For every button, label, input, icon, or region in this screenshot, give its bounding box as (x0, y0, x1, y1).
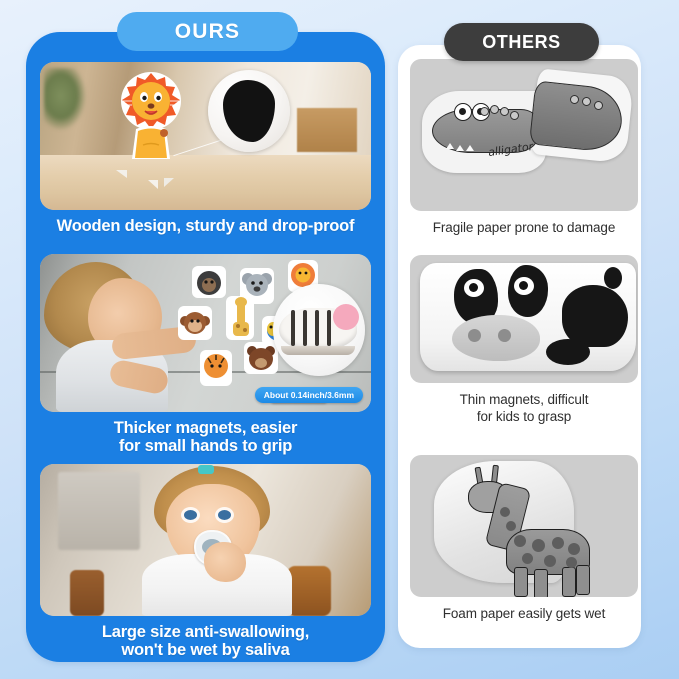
giraffe-leg (514, 567, 528, 597)
others-image-foam-paper-wet (410, 455, 638, 597)
others-panel-1: alligator Fragile paper prone to damage (410, 59, 638, 237)
alligator-scale (490, 105, 499, 114)
giraffe-spot (544, 555, 556, 567)
ours-caption-1: Wooden design, sturdy and drop-proof (40, 210, 371, 235)
ours-card: Wooden design, sturdy and drop-proof (26, 32, 385, 662)
zebra-stripe (303, 310, 307, 346)
giraffe-spot (552, 537, 564, 549)
alligator-eye-left (454, 103, 472, 121)
cow-nostril (498, 329, 511, 342)
ours-caption-3: Large size anti-swallowing, won't be wet… (40, 616, 371, 660)
magnet-back-black-blob (223, 80, 275, 142)
gorilla-magnet-icon (192, 266, 226, 298)
baby-eye-right (218, 510, 231, 520)
ours-panel-2: About 0.14inch/3.6mm Thicker magnets, ea… (40, 254, 371, 456)
ours-caption-3-line2: won't be wet by saliva (40, 641, 371, 659)
giraffe-spot (514, 535, 526, 547)
alligator-scale (582, 97, 591, 106)
zebra-head (333, 304, 359, 330)
others-caption-2: Thin magnets, difficult for kids to gras… (410, 383, 638, 426)
others-caption-2-line2: for kids to grasp (410, 409, 638, 426)
giraffe-spot (532, 539, 545, 552)
alligator-tooth (466, 145, 474, 151)
ours-caption-2: Thicker magnets, easier for small hands … (40, 412, 371, 456)
ours-caption-2-line2: for small hands to grip (40, 437, 371, 455)
size-badge: About 0.14inch/3.6mm (255, 387, 363, 403)
ours-panel-1: Wooden design, sturdy and drop-proof (40, 62, 371, 235)
magnet-thickness-edge (281, 346, 355, 355)
zebra-stripe (291, 310, 295, 346)
cow-eye-right (514, 277, 534, 295)
ours-photo-thicker-magnets: About 0.14inch/3.6mm (40, 254, 371, 412)
cow-patch (604, 267, 622, 289)
alligator-scale (594, 101, 603, 110)
baby-hand (204, 542, 246, 582)
others-panel-3: Foam paper easily gets wet (410, 455, 638, 623)
others-caption-3: Foam paper easily gets wet (410, 597, 638, 623)
alligator-tooth (456, 145, 464, 151)
alligator-scale (480, 107, 489, 116)
zoom-circle-backside (208, 70, 290, 152)
baby-figure (132, 466, 300, 616)
giraffe-spot (568, 543, 580, 555)
giraffe-leg (562, 567, 576, 597)
hair-clip (198, 465, 214, 474)
giraffe-spot (566, 557, 577, 568)
cow-nostril (468, 329, 481, 342)
plant-decor (44, 68, 86, 130)
cow-magnet-sheet (410, 255, 638, 383)
zoom-circle-zebra-thickness (273, 284, 365, 376)
cabinet-decor (58, 472, 140, 550)
photo-background-table (40, 155, 371, 210)
giraffe-spot (506, 521, 516, 531)
others-card: alligator Fragile paper prone to damage (398, 45, 641, 648)
others-image-thin-magnets (410, 255, 638, 383)
ours-caption-2-line1: Thicker magnets, easier (40, 419, 371, 437)
giraffe-leg (534, 569, 548, 597)
wood-chip-2 (148, 180, 158, 189)
shelf-decor (297, 108, 357, 152)
alligator-tooth (446, 143, 454, 149)
toddler-figure (40, 258, 190, 412)
wood-chip-3 (164, 178, 174, 187)
alligator-scale (510, 111, 519, 120)
ours-panel-3: Large size anti-swallowing, won't be wet… (40, 464, 371, 660)
alligator-magnet-torn: alligator (410, 59, 638, 211)
baby-eye-left (184, 510, 197, 520)
cow-muzzle (452, 315, 540, 361)
monkey-magnet-icon (178, 306, 212, 340)
others-caption-2-line1: Thin magnets, difficult (410, 392, 638, 409)
zebra-stripe (315, 310, 319, 346)
others-panel-2: Thin magnets, difficult for kids to gras… (410, 255, 638, 426)
ours-badge: OURS (117, 12, 298, 51)
tiger-magnet-icon (200, 350, 232, 386)
wood-chip-1 (116, 170, 127, 178)
ours-photo-anti-swallowing (40, 464, 371, 616)
ours-photo-wooden-lion (40, 62, 371, 210)
bear-magnet-icon (244, 342, 278, 374)
chair-left (70, 570, 104, 616)
giraffe-spot (522, 553, 533, 564)
others-caption-1: Fragile paper prone to damage (410, 211, 638, 237)
giraffe-spot (500, 507, 510, 517)
ours-caption-3-line1: Large size anti-swallowing, (40, 623, 371, 641)
cow-patch (562, 285, 628, 347)
cow-patch (546, 339, 590, 365)
others-image-fragile-paper: alligator (410, 59, 638, 211)
giraffe-leg (576, 565, 590, 595)
alligator-scale (570, 95, 579, 104)
alligator-scale (500, 107, 509, 116)
zebra-stripe (327, 310, 331, 346)
giraffe-magnet-icon (226, 296, 254, 340)
giraffe-magnet-wet (410, 455, 638, 597)
cow-eye-left (464, 279, 484, 297)
others-badge: OTHERS (444, 23, 599, 61)
